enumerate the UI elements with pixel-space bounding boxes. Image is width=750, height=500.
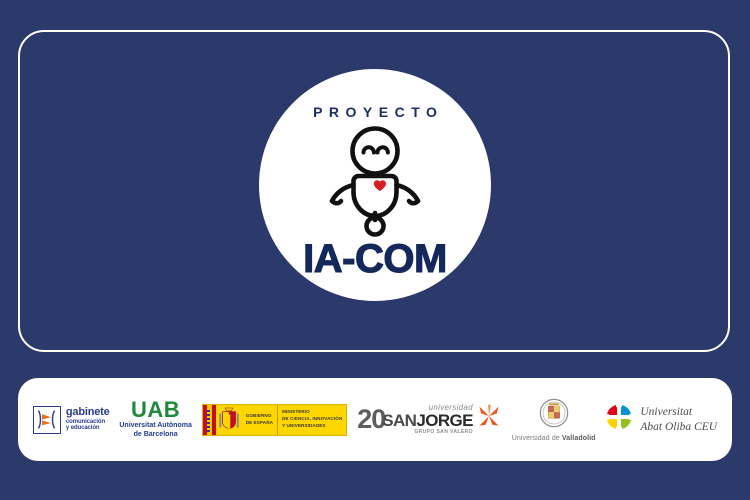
project-badge: PROYECTO — [259, 69, 491, 301]
robot-with-heart-icon — [315, 125, 435, 237]
logo-gobierno-espana: GOBIERNO DE ESPAÑA MINISTERIO DE CIENCIA… — [202, 404, 348, 436]
sanjorge-name-light: SAN — [382, 411, 416, 430]
logo-uab: UAB Universitat Autònoma de Barcelona — [119, 399, 191, 440]
poster-canvas: PROYECTO — [0, 0, 750, 500]
ceu-cross-icon — [605, 403, 633, 436]
logo-gabinete: gabinete comunicación y educación — [33, 406, 110, 434]
uab-line2: Universitat Autònoma — [119, 422, 191, 431]
sanjorge-name-bold: JORGE — [416, 411, 473, 430]
valladolid-seal-icon — [539, 398, 569, 433]
gabinete-name: gabinete — [66, 407, 110, 419]
ministerio-label: MINISTERIO DE CIENCIA, INNOVACIÓN Y UNIV… — [277, 405, 346, 435]
valladolid-name-de: de — [552, 435, 560, 442]
page-title: IA-COM — [303, 239, 447, 279]
sanjorge-starburst-icon — [476, 404, 502, 435]
sanjorge-anniversary-number: 20 — [357, 406, 385, 433]
sanjorge-group: GRUPO SAN VALERO — [382, 430, 473, 435]
ceu-line1: Universitat — [640, 405, 717, 420]
sponsor-logo-bar: gabinete comunicación y educación UAB Un… — [18, 378, 732, 461]
valladolid-name-light: Universidad — [512, 435, 550, 442]
logo-abat-oliba-ceu: Universitat Abat Oliba CEU — [605, 403, 717, 436]
spain-flag-icon — [203, 405, 216, 435]
sanjorge-name: SANJORGE — [382, 412, 473, 430]
gabinete-line3: y educación — [66, 425, 110, 431]
gobierno-label: GOBIERNO DE ESPAÑA — [242, 405, 277, 435]
logo-universidad-valladolid: Universidad de Valladolid — [512, 398, 596, 442]
ceu-line2: Abat Oliba CEU — [640, 420, 717, 435]
valladolid-name: Universidad de Valladolid — [512, 435, 596, 442]
gabinete-mark-icon — [33, 406, 61, 434]
badge-kicker: PROYECTO — [307, 105, 444, 119]
uab-acronym: UAB — [131, 399, 180, 421]
logo-universidad-san-jorge: 20 universidad SANJORGE GRUPO SAN VALERO — [357, 404, 502, 435]
spain-coat-of-arms-icon — [216, 405, 242, 435]
heart-icon — [374, 180, 386, 191]
uab-line3: de Barcelona — [119, 431, 191, 440]
valladolid-name-bold: Valladolid — [562, 435, 596, 442]
